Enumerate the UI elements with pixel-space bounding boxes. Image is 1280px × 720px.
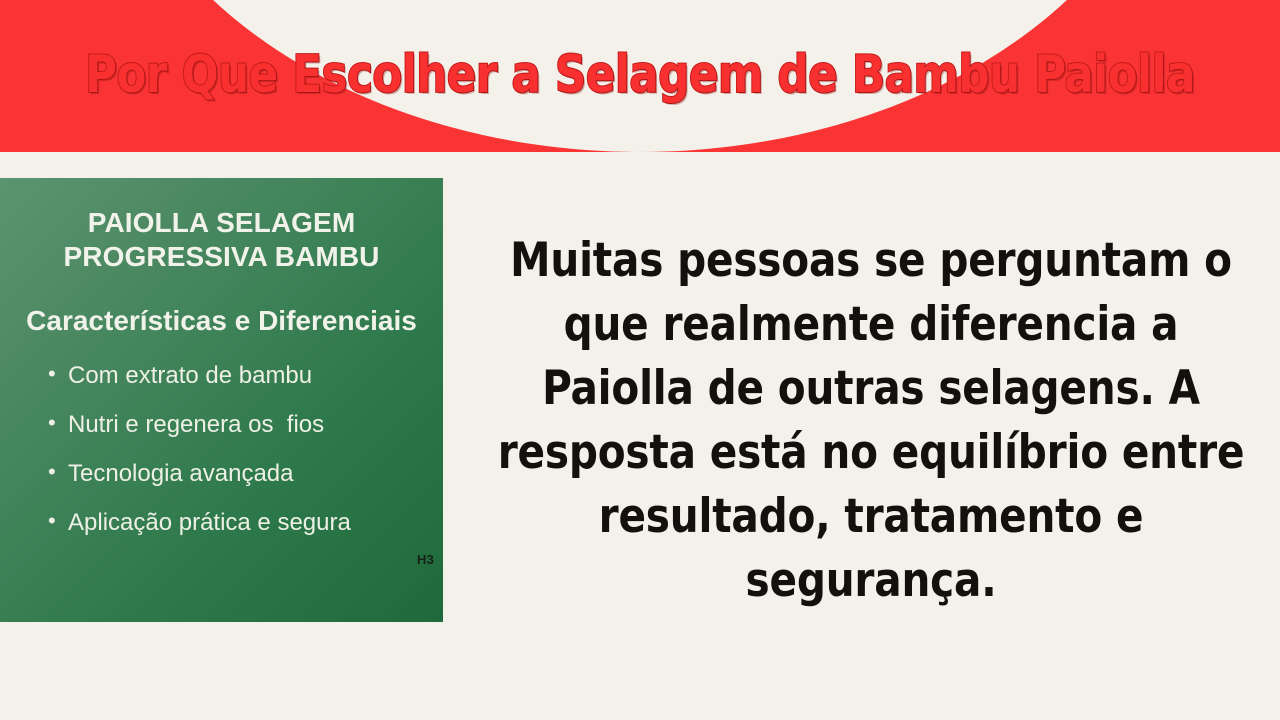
slide-canvas: Por Que Escolher a Selagem de Bambu Paio… (0, 0, 1280, 720)
list-item: Com extrato de bambu (48, 364, 429, 388)
list-item: Nutri e regenera os fios (48, 413, 429, 437)
feature-card: PAIOLLA SELAGEM PROGRESSIVA BAMBU Caract… (0, 178, 443, 622)
card-product-title: PAIOLLA SELAGEM PROGRESSIVA BAMBU (14, 206, 429, 274)
page-title: Por Que Escolher a Selagem de Bambu Paio… (45, 47, 1235, 103)
list-item: Tecnologia avançada (48, 462, 429, 486)
card-subtitle: Características e Diferenciais (14, 304, 429, 338)
heading-level-tag: H3 (417, 553, 434, 566)
list-item: Aplicação prática e segura (48, 511, 429, 535)
body-paragraph: Muitas pessoas se perguntam o que realme… (496, 229, 1247, 612)
feature-bullet-list: Com extrato de bambu Nutri e regenera os… (14, 364, 429, 535)
